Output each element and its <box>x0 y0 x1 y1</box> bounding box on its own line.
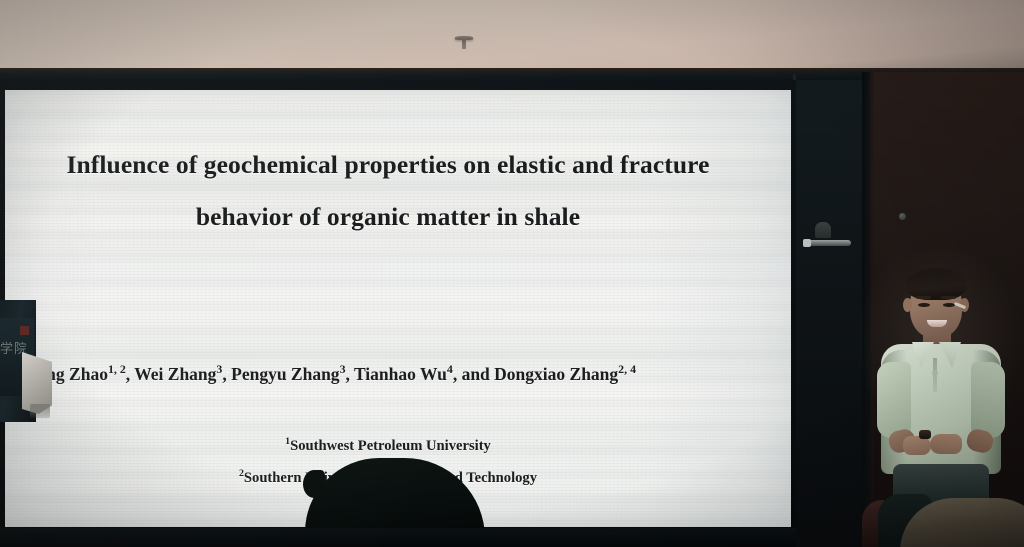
foreground-shadow-bar <box>0 528 796 547</box>
presenter-shirt-button <box>932 370 938 376</box>
presenter-eyebrow-left <box>916 296 931 299</box>
author-5-affiliation-marker: 2, 4 <box>618 362 636 376</box>
wall-indicator-dot-icon <box>899 213 906 220</box>
presenter-eye-left <box>918 303 930 307</box>
author-1-affiliation-marker: 1, 2 <box>108 362 126 376</box>
slide-title-line-1: Influence of geochemical properties on e… <box>66 150 709 179</box>
sprinkler-stem-icon <box>462 39 466 49</box>
author-4: Tianhao Wu4 <box>354 364 453 384</box>
audience-head-center-tuft <box>303 470 325 498</box>
author-sep-2: , <box>222 364 231 384</box>
author-5: and Dongxiao Zhang2, 4 <box>462 364 636 384</box>
presenter-ear-left <box>903 298 912 312</box>
presenter <box>855 258 1024 518</box>
presentation-clicker-icon <box>919 430 931 439</box>
wall-speaker-icon <box>815 222 831 238</box>
affiliation-1: 1Southwest Petroleum University <box>0 428 779 460</box>
presenter-sleeve-left <box>877 362 911 438</box>
affiliation-1-name: Southwest Petroleum University <box>290 438 491 454</box>
presenter-hair <box>906 268 966 300</box>
sprinkler-head-icon <box>455 36 473 40</box>
lectern-red-mark <box>20 326 29 335</box>
author-sep-1: , <box>126 364 134 384</box>
wall-speaker-tip-icon <box>803 239 811 247</box>
wall-speaker-arm-icon <box>805 240 851 246</box>
presenter-hand-right <box>930 434 962 454</box>
lectern-shadow <box>30 404 50 418</box>
slide-title-line-2: behavior of organic matter in shale <box>0 191 779 243</box>
author-2: Wei Zhang3 <box>134 364 222 384</box>
author-sep-3: , <box>346 364 354 384</box>
presenter-eyebrow-right <box>941 296 956 299</box>
author-3: Pengyu Zhang3 <box>231 364 345 384</box>
presenter-sleeve-right <box>971 362 1005 438</box>
slide-title: Influence of geochemical properties on e… <box>0 139 779 243</box>
slide-authors: nliang Zhao1, 2, Wei Zhang3, Pengyu Zhan… <box>0 362 807 385</box>
presentation-photo-scene: Influence of geochemical properties on e… <box>0 0 1024 547</box>
author-sep-4: , <box>453 364 462 384</box>
ceiling-light-sheen <box>0 0 1024 76</box>
